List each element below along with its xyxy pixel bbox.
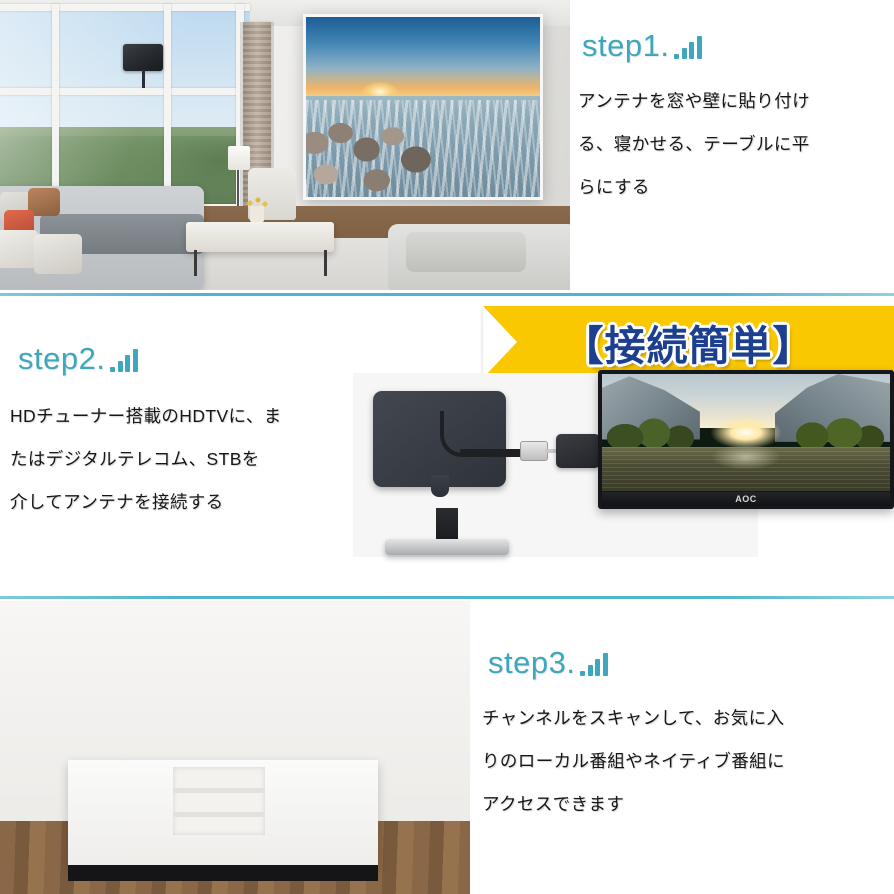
section-divider-2 xyxy=(0,596,894,599)
step2-line-1: HDチューナー搭載のHDTVに、ま xyxy=(10,395,352,438)
step3-line-2: りのローカル番組やネイティブ番組に xyxy=(482,740,892,783)
amplifier-box xyxy=(556,434,600,468)
console-shelf-2 xyxy=(173,812,265,817)
step2-label-text: step2. xyxy=(18,343,105,374)
coax-cable-run xyxy=(460,449,528,453)
aoc-monitor: AOC xyxy=(598,370,894,509)
monitor-stand-base xyxy=(385,539,509,555)
console-shelf-1 xyxy=(173,788,265,793)
console-kick-panel xyxy=(68,865,378,881)
monitor-chin: AOC xyxy=(602,492,890,506)
step1-label: step1. xyxy=(582,30,702,61)
step3-section: step3. チャンネルをスキャンして、お気に入 りのローカル番組やネイティブ番… xyxy=(0,601,894,894)
step1-line-3: らにする xyxy=(578,166,888,209)
window-mullion-v1 xyxy=(52,4,59,212)
floor-lamp-shade xyxy=(228,146,250,170)
window-frame-top xyxy=(0,4,250,11)
monitor-stand-neck xyxy=(436,508,458,542)
monitor-screen-valley-sunrise xyxy=(602,374,890,491)
step1-section: step1. アンテナを窓や壁に貼り付け る、寝かせる、テーブルに平 らにする xyxy=(0,0,894,296)
coax-plug xyxy=(520,441,548,461)
sunflowers xyxy=(244,196,270,210)
step2-section: step2. HDチューナー搭載のHDTVに、ま たはデジタルテレコム、STBを… xyxy=(0,299,894,598)
step1-scene-living-room xyxy=(0,0,570,290)
step1-label-text: step1. xyxy=(582,30,669,61)
step1-line-1: アンテナを窓や壁に貼り付け xyxy=(578,80,888,123)
step3-text-panel: step3. チャンネルをスキャンして、お気に入 りのローカル番組やネイティブ番… xyxy=(470,625,894,890)
banner-text: 【接続簡単】 xyxy=(483,306,894,378)
step3-scene-tv-room xyxy=(0,601,470,894)
feature-banner: 【接続簡単】 xyxy=(483,306,894,378)
sectional-sofa xyxy=(0,186,204,290)
console-open-bay xyxy=(173,767,265,835)
antenna-on-window xyxy=(123,44,163,71)
monitor-brand-label: AOC xyxy=(735,494,757,504)
floor-lamp-stem xyxy=(237,170,239,206)
signal-bars-icon xyxy=(110,348,138,372)
antenna-cable-tab xyxy=(431,475,449,497)
step2-line-2: たはデジタルテレコム、STBを xyxy=(10,438,352,481)
media-console xyxy=(68,760,378,867)
step2-description: HDチューナー搭載のHDTVに、ま たはデジタルテレコム、STBを 介してアンテ… xyxy=(10,395,352,524)
step1-text-panel: step1. アンテナを窓や壁に貼り付け る、寝かせる、テーブルに平 らにする xyxy=(570,0,894,296)
step2-label: step2. xyxy=(18,343,138,374)
signal-bars-icon xyxy=(580,652,608,676)
tv-screen-image-ocean-sunset xyxy=(306,17,540,197)
product-infographic-page: step1. アンテナを窓や壁に貼り付け る、寝かせる、テーブルに平 らにする … xyxy=(0,0,894,894)
window-mullion-h xyxy=(0,88,250,95)
coffee-table xyxy=(186,222,334,252)
step2-line-3: 介してアンテナを接続する xyxy=(10,481,352,524)
wall-mounted-tv xyxy=(303,14,543,200)
section-divider-1 xyxy=(0,293,894,296)
step3-description: チャンネルをスキャンして、お気に入 りのローカル番組やネイティブ番組に アクセス… xyxy=(482,697,892,826)
step3-label: step3. xyxy=(488,647,608,678)
step2-text-panel: step2. HDチューナー搭載のHDTVに、ま たはデジタルテレコム、STBを… xyxy=(0,315,352,545)
step3-line-3: アクセスできます xyxy=(482,783,892,826)
step1-line-2: る、寝かせる、テーブルに平 xyxy=(578,123,888,166)
window-mullion-v2 xyxy=(164,4,171,212)
step3-line-1: チャンネルをスキャンして、お気に入 xyxy=(482,697,892,740)
second-sofa xyxy=(388,224,570,290)
step3-label-text: step3. xyxy=(488,647,575,678)
signal-bars-icon xyxy=(674,35,702,59)
step1-description: アンテナを窓や壁に貼り付け る、寝かせる、テーブルに平 らにする xyxy=(578,80,888,209)
